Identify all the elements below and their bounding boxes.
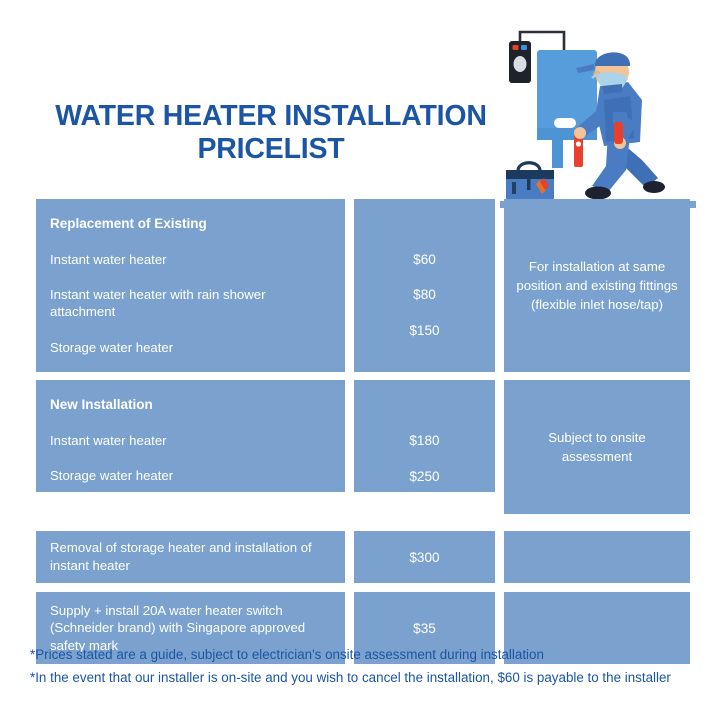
note-text: Subject to onsite assessment <box>504 380 690 514</box>
section-heading: New Installation <box>50 396 331 414</box>
footnotes: *Prices stated are a guide, subject to e… <box>30 645 695 692</box>
price-column: $180 $250 <box>354 380 495 492</box>
item-description: Removal of storage heater and installati… <box>36 539 345 575</box>
plumber-water-heater-illustration <box>496 20 700 210</box>
page-title-line-2: PRICELIST <box>36 133 506 166</box>
note-text <box>504 531 528 583</box>
item-price: $150 <box>364 322 485 340</box>
pricelist-table: Replacement of Existing Instant water he… <box>36 199 690 664</box>
note-column <box>504 531 690 583</box>
tool-bag-icon <box>506 163 554 200</box>
handheld-tool-icon <box>614 122 623 144</box>
page-title-line-1: WATER HEATER INSTALLATION <box>36 100 506 133</box>
item-description: Storage water heater <box>50 467 331 484</box>
section-heading: Replacement of Existing <box>50 215 331 233</box>
table-block-replacement-of-existing: Replacement of Existing Instant water he… <box>36 199 690 372</box>
item-description: Instant water heater with rain shower at… <box>50 286 331 321</box>
row-spacer <box>36 583 690 592</box>
pricelist-page: WATER HEATER INSTALLATION PRICELIST Repl… <box>0 0 720 720</box>
row-spacer <box>36 514 690 522</box>
note-column: For installation at same position and ex… <box>504 199 690 372</box>
desc-column: Replacement of Existing Instant water he… <box>36 199 345 372</box>
item-price: $80 <box>364 286 485 304</box>
price-column: $300 <box>354 531 495 583</box>
table-block-new-installation: New Installation Instant water heater St… <box>36 380 690 514</box>
item-description: Storage water heater <box>50 339 331 356</box>
row-spacer <box>36 372 690 380</box>
item-price: $35 <box>354 621 495 636</box>
page-title: WATER HEATER INSTALLATION PRICELIST <box>36 100 506 167</box>
footnote-cancellation-fee: *In the event that our installer is on-s… <box>30 668 695 688</box>
item-price: $300 <box>354 550 495 565</box>
control-panel-icon <box>509 41 531 83</box>
desc-column: Removal of storage heater and installati… <box>36 531 345 583</box>
price-column: $60 $80 $150 <box>354 199 495 372</box>
item-price: $250 <box>364 468 485 486</box>
note-column: Subject to onsite assessment <box>504 380 690 514</box>
item-description: Instant water heater <box>50 432 331 449</box>
item-price: $60 <box>364 251 485 269</box>
footnote-prices-guide: *Prices stated are a guide, subject to e… <box>30 645 695 665</box>
item-price: $180 <box>364 432 485 450</box>
item-description: Instant water heater <box>50 251 331 268</box>
desc-column: New Installation Instant water heater St… <box>36 380 345 492</box>
note-text: For installation at same position and ex… <box>504 199 690 372</box>
table-row-removal-and-install: Removal of storage heater and installati… <box>36 531 690 583</box>
